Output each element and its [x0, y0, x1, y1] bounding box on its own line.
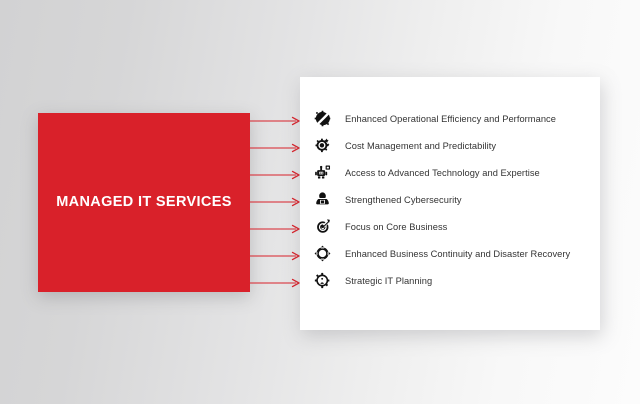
speedometer-gear-icon — [308, 108, 336, 130]
benefit-item: Enhanced Operational Efficiency and Perf… — [308, 105, 594, 132]
arrow-right-connector — [250, 279, 299, 286]
managed-it-services-block: MANAGED IT SERVICES — [38, 113, 250, 292]
hooded-hacker-lock-icon — [308, 189, 336, 211]
benefit-label: Cost Management and Predictability — [336, 141, 496, 151]
coin-gear-icon — [308, 135, 336, 157]
benefits-panel: Enhanced Operational Efficiency and Perf… — [300, 77, 600, 330]
page-title: MANAGED IT SERVICES — [56, 194, 232, 211]
arrow-right-connector — [250, 171, 299, 178]
arrow-connectors-group — [248, 77, 304, 330]
robot-icon — [308, 162, 336, 184]
benefit-item: Access to Advanced Technology and Expert… — [308, 159, 594, 186]
arrow-right-connector — [250, 117, 299, 124]
arrow-right-connector — [250, 225, 299, 232]
arrow-right-connector — [250, 198, 299, 205]
benefit-item: Strengthened Cybersecurity — [308, 186, 594, 213]
benefit-label: Enhanced Business Continuity and Disaste… — [336, 249, 570, 259]
benefits-list: Enhanced Operational Efficiency and Perf… — [308, 105, 594, 294]
benefit-label: Strategic IT Planning — [336, 276, 432, 286]
target-arrow-icon — [308, 216, 336, 238]
arrow-right-connector — [250, 252, 299, 259]
benefit-item: Strategic IT Planning — [308, 267, 594, 294]
benefit-label: Access to Advanced Technology and Expert… — [336, 168, 540, 178]
cycle-ring-icon — [308, 243, 336, 265]
benefit-item: Cost Management and Predictability — [308, 132, 594, 159]
benefit-label: Enhanced Operational Efficiency and Perf… — [336, 114, 556, 124]
benefit-label: Strengthened Cybersecurity — [336, 195, 462, 205]
infographic-canvas: MANAGED IT SERVICES Enhanced Operational… — [0, 0, 640, 404]
benefit-item: Focus on Core Business — [308, 213, 594, 240]
benefit-label: Focus on Core Business — [336, 222, 447, 232]
benefit-item: Enhanced Business Continuity and Disaste… — [308, 240, 594, 267]
gear-person-icon — [308, 270, 336, 292]
arrow-right-connector — [250, 144, 299, 151]
